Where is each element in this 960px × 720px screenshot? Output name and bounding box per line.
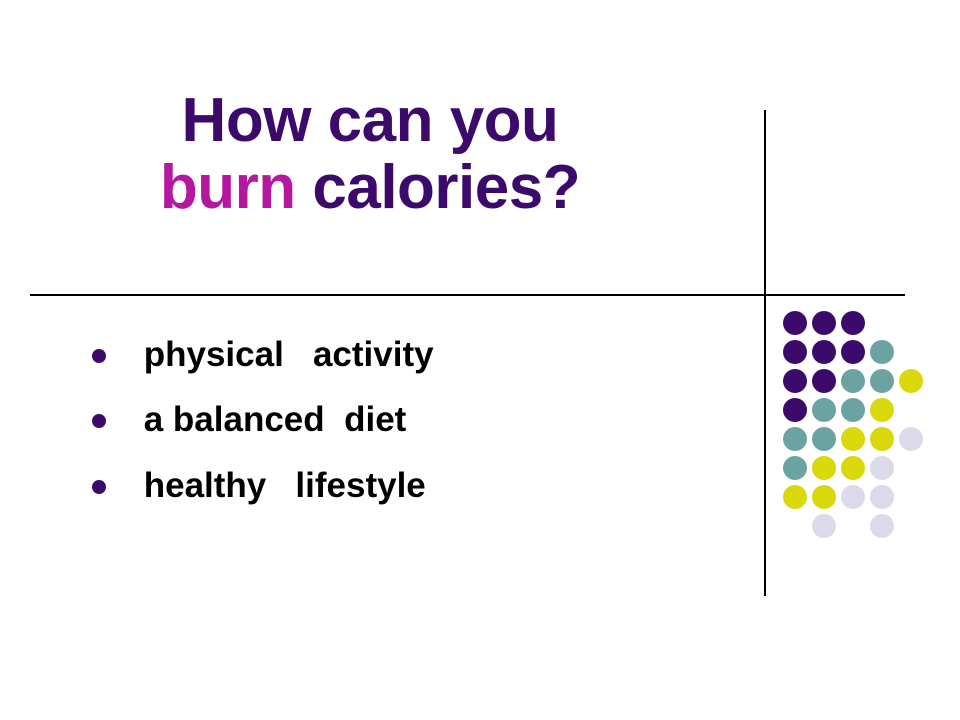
dot-grid-cell: [783, 485, 807, 509]
list-item: a balanced diet: [86, 399, 706, 440]
list-item-label: a balanced diet: [134, 400, 406, 439]
slide-canvas: How can you burn calories? physical acti…: [0, 0, 960, 720]
dot-grid-cell: [812, 369, 836, 393]
dot-grid-cell: [783, 398, 807, 422]
dot-grid-cell: [812, 311, 836, 335]
dot-grid-cell: [783, 311, 807, 335]
dot-grid-cell: [870, 398, 894, 422]
title-keyword-burn: burn: [160, 153, 296, 222]
dot-grid-cell: [841, 427, 865, 451]
horizontal-rule: [30, 294, 905, 296]
list-item-label: healthy lifestyle: [134, 466, 426, 505]
dot-grid-cell: [899, 427, 923, 451]
dot-grid-cell: [812, 485, 836, 509]
dot-grid-cell: [870, 369, 894, 393]
vertical-rule: [764, 110, 766, 596]
dot-grid: [783, 311, 953, 561]
dot-grid-cell: [841, 485, 865, 509]
dot-grid-cell: [841, 311, 865, 335]
bullet-dot-icon: [92, 480, 106, 494]
dot-grid-cell: [812, 456, 836, 480]
title-line-2: burn calories?: [20, 155, 720, 222]
dot-grid-cell: [870, 514, 894, 538]
title-line-1: How can you: [20, 88, 720, 155]
list-item: healthy lifestyle: [86, 465, 706, 506]
dot-grid-cell: [812, 340, 836, 364]
bullet-dot-icon: [92, 349, 106, 363]
dot-grid-cell: [870, 340, 894, 364]
dot-grid-cell: [841, 456, 865, 480]
dot-grid-cell: [870, 485, 894, 509]
dot-grid-cell: [841, 340, 865, 364]
dot-grid-cell: [812, 398, 836, 422]
dot-grid-cell: [783, 340, 807, 364]
dot-grid-cell: [812, 427, 836, 451]
page-title: How can you burn calories?: [20, 88, 720, 222]
bullet-list: physical activity a balanced diet health…: [86, 334, 706, 530]
list-item: physical activity: [86, 334, 706, 375]
dot-grid-cell: [870, 427, 894, 451]
title-line-2-rest: calories?: [296, 153, 580, 222]
dot-grid-cell: [783, 456, 807, 480]
list-item-label: physical activity: [134, 335, 434, 374]
dot-grid-cell: [783, 427, 807, 451]
dot-grid-cell: [899, 369, 923, 393]
dot-grid-cell: [812, 514, 836, 538]
dot-grid-cell: [870, 456, 894, 480]
dot-grid-cell: [783, 369, 807, 393]
dot-grid-cell: [841, 369, 865, 393]
dot-grid-cell: [841, 398, 865, 422]
bullet-dot-icon: [92, 414, 106, 428]
